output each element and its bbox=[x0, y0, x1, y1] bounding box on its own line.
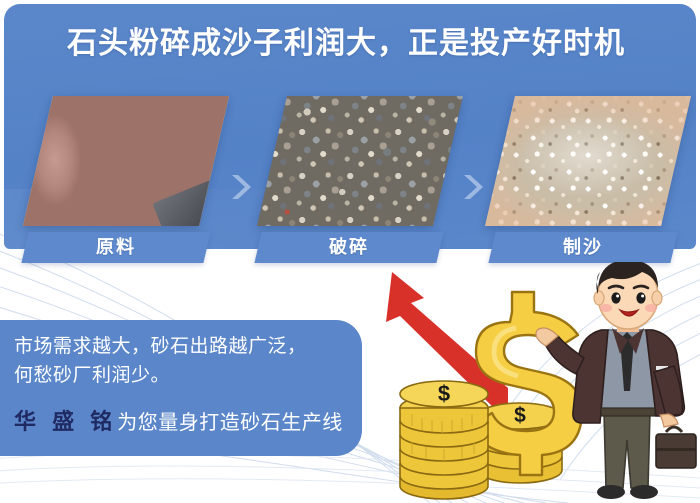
message-panel: 市场需求越大，砂石出路越广泛， 何愁砂厂利润少。 华 盛 铭为您量身打造砂石生产… bbox=[0, 320, 362, 456]
process-photo-crushing bbox=[257, 96, 463, 226]
manufactured-sand-photo bbox=[485, 96, 691, 226]
process-label-sand-making: 制沙 bbox=[488, 232, 677, 263]
process-label-text-3: 制沙 bbox=[492, 232, 674, 263]
crushed-gravel-photo bbox=[257, 96, 463, 226]
process-label-raw-material: 原料 bbox=[21, 232, 210, 263]
process-label-text-2: 破碎 bbox=[258, 232, 440, 263]
gold-coin-stack-icon: $ bbox=[400, 381, 488, 499]
brand-tagline: 为您量身打造砂石生产线 bbox=[117, 412, 343, 434]
river-pebbles-photo bbox=[23, 96, 229, 226]
promo-poster: 石头粉碎成沙子利润大，正是投产好时机 原料 破碎 制沙 bbox=[0, 0, 700, 503]
svg-text:$: $ bbox=[514, 404, 526, 427]
message-line-2: 何愁砂厂利润少。 bbox=[0, 361, 362, 390]
process-panels bbox=[0, 96, 700, 251]
process-photo-raw-material bbox=[23, 96, 229, 226]
message-line-1: 市场需求越大，砂石出路越广泛， bbox=[0, 320, 362, 361]
page-title: 石头粉碎成沙子利润大，正是投产好时机 bbox=[0, 24, 692, 64]
brand-line: 华 盛 铭为您量身打造砂石生产线 bbox=[0, 390, 362, 436]
process-label-crushing: 破碎 bbox=[254, 232, 443, 263]
brand-name: 华 盛 铭 bbox=[14, 409, 117, 434]
process-photo-sand-making bbox=[485, 96, 691, 226]
chevron-right-icon-2 bbox=[461, 172, 487, 202]
process-label-text-1: 原料 bbox=[25, 232, 207, 263]
svg-text:$: $ bbox=[438, 381, 450, 406]
chevron-right-icon bbox=[229, 172, 255, 202]
money-and-businessman-illustration: $ bbox=[398, 262, 700, 503]
